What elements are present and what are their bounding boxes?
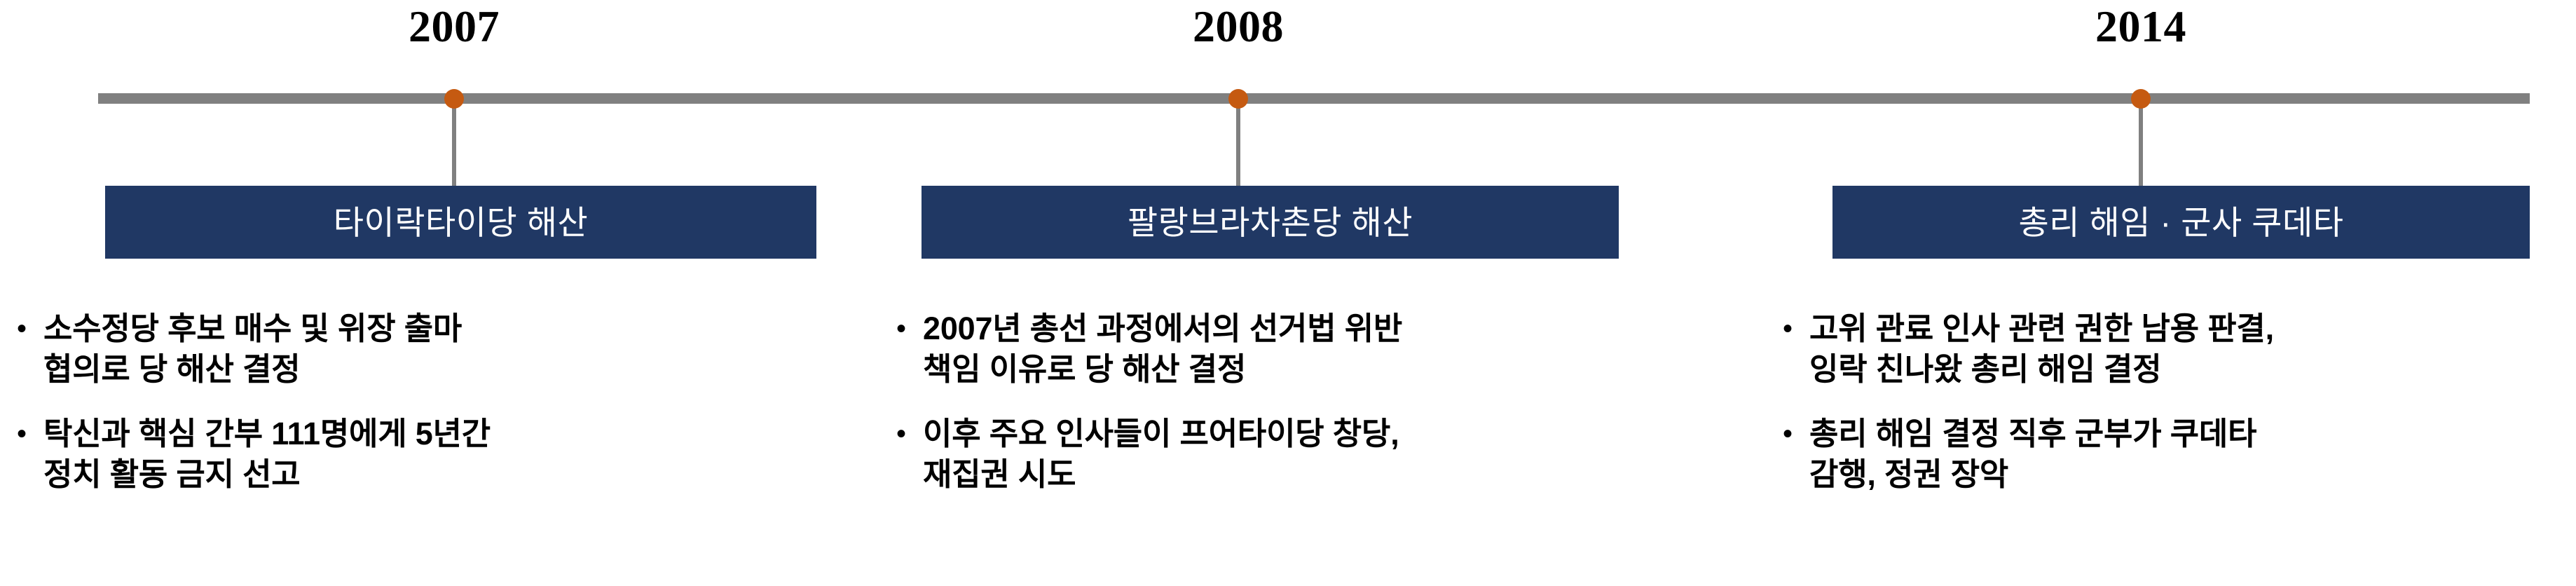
event-box-label-2008: 팔랑브라차촌당 해산 [1128,206,1413,239]
bullet-point-icon: • [1773,414,1809,454]
timeline-node-marker-2014[interactable] [2131,89,2151,109]
list-item: • 2007년 총선 과정에서의 선거법 위반 책임 이유로 당 해산 결정 [886,308,1790,390]
bullet-point-icon: • [7,414,43,454]
event-box-2014[interactable]: 총리 해임 · 군사 쿠데타 [1832,186,2530,259]
bullet-text: 소수정당 후보 매수 및 위장 출마 협의로 당 해산 결정 [43,308,834,390]
connector-stem-2007 [452,98,456,188]
bullet-point-icon: • [886,308,923,349]
list-item: • 고위 관료 인사 관련 권한 남용 판결, 잉락 친나왔 총리 해임 결정 [1773,308,2576,390]
list-item: • 소수정당 후보 매수 및 위장 출마 협의로 당 해산 결정 [7,308,834,390]
bullet-column-2007: • 소수정당 후보 매수 및 위장 출마 협의로 당 해산 결정 • 탁신과 핵… [7,308,834,519]
timeline-infographic: 2007 타이락타이당 해산 • 소수정당 후보 매수 및 위장 출마 협의로 … [0,0,2576,586]
bullet-text: 총리 해임 결정 직후 군부가 쿠데타 감행, 정권 장악 [1809,414,2576,495]
bullet-point-icon: • [7,308,43,349]
bullet-point-icon: • [886,414,923,454]
timeline-node-marker-2007[interactable] [444,89,464,109]
bullet-point-icon: • [1773,308,1809,349]
bullet-column-2008: • 2007년 총선 과정에서의 선거법 위반 책임 이유로 당 해산 결정 •… [886,308,1790,519]
list-item: • 탁신과 핵심 간부 111명에게 5년간 정치 활동 금지 선고 [7,414,834,495]
year-label-2007: 2007 [409,4,500,49]
timeline-node-marker-2008[interactable] [1228,89,1248,109]
bullet-text: 이후 주요 인사들이 프어타이당 창당, 재집권 시도 [923,414,1790,495]
bullet-text: 고위 관료 인사 관련 권한 남용 판결, 잉락 친나왔 총리 해임 결정 [1809,308,2576,390]
event-box-2008[interactable]: 팔랑브라차촌당 해산 [922,186,1619,259]
event-box-label-2014: 총리 해임 · 군사 쿠데타 [2018,206,2343,239]
event-box-2007[interactable]: 타이락타이당 해산 [105,186,816,259]
bullet-text: 탁신과 핵심 간부 111명에게 5년간 정치 활동 금지 선고 [43,414,834,495]
bullet-column-2014: • 고위 관료 인사 관련 권한 남용 판결, 잉락 친나왔 총리 해임 결정 … [1773,308,2576,519]
bullet-text: 2007년 총선 과정에서의 선거법 위반 책임 이유로 당 해산 결정 [923,308,1790,390]
connector-stem-2008 [1236,98,1240,188]
connector-stem-2014 [2139,98,2143,188]
list-item: • 이후 주요 인사들이 프어타이당 창당, 재집권 시도 [886,414,1790,495]
year-label-2008: 2008 [1193,4,1284,49]
event-box-label-2007: 타이락타이당 해산 [334,206,588,239]
year-label-2014: 2014 [2095,4,2186,49]
list-item: • 총리 해임 결정 직후 군부가 쿠데타 감행, 정권 장악 [1773,414,2576,495]
